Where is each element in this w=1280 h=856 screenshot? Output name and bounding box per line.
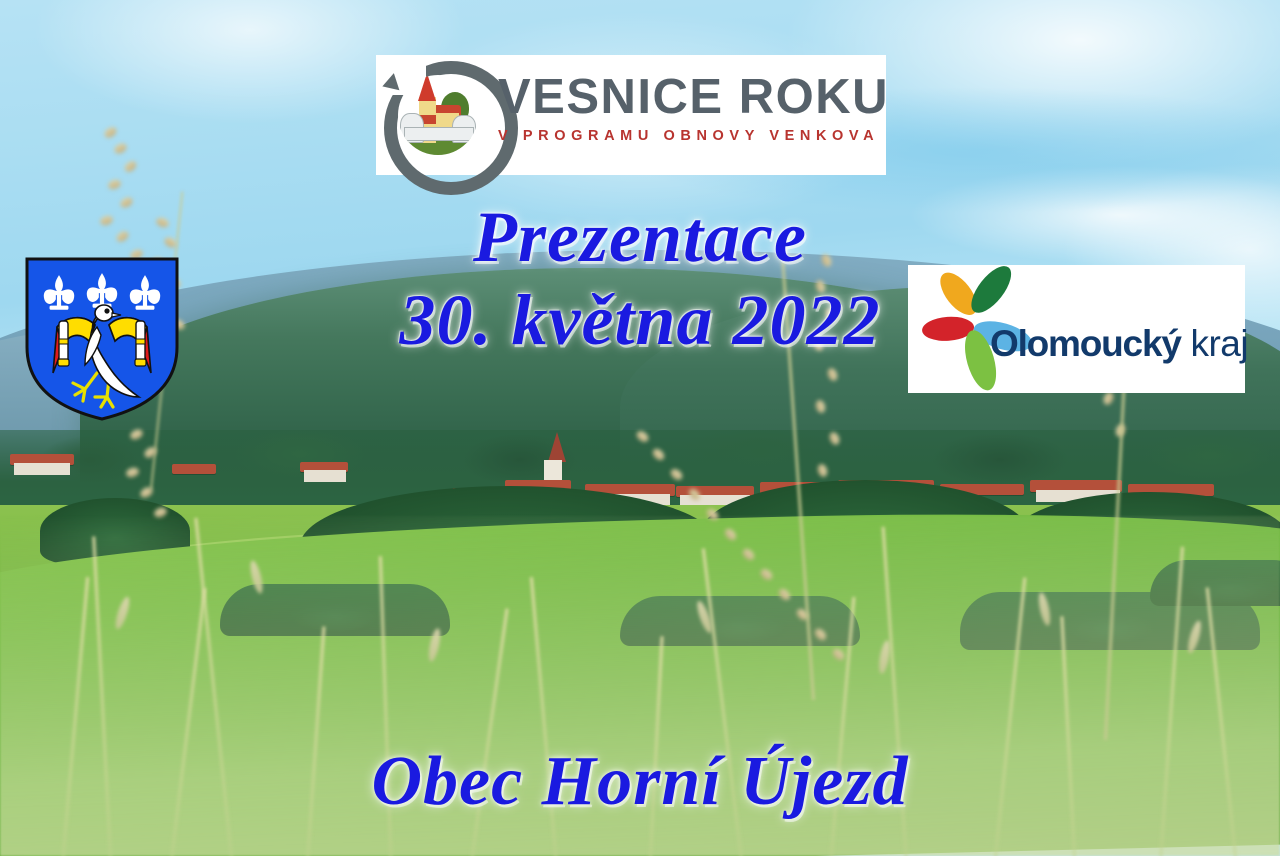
- vesnice-roku-title: VESNICE ROKU: [498, 69, 888, 125]
- presentation-poster: VESNICE ROKU V PROGRAMU OBNOVY VENKOVA O…: [0, 0, 1280, 856]
- vesnice-roku-logo: VESNICE ROKU V PROGRAMU OBNOVY VENKOVA: [376, 55, 886, 175]
- olomoucky-bold-text: Olomoucký: [990, 323, 1181, 364]
- hedge-row-left: [220, 584, 450, 636]
- petal-dark-green: [964, 260, 1018, 320]
- vesnice-roku-emblem-icon: [384, 61, 492, 169]
- olomoucky-kraj-wordmark: Olomoucký kraj: [990, 323, 1248, 365]
- vesnice-roku-subtitle: V PROGRAMU OBNOVY VENKOVA: [498, 126, 888, 146]
- kraj-light-text: kraj: [1181, 323, 1248, 364]
- coat-of-arms: [23, 255, 181, 423]
- vesnice-roku-wordmark: VESNICE ROKU V PROGRAMU OBNOVY VENKOVA: [498, 69, 888, 146]
- hedge-row-far: [1150, 560, 1280, 606]
- olomoucky-kraj-logo: Olomoucký kraj: [908, 265, 1245, 393]
